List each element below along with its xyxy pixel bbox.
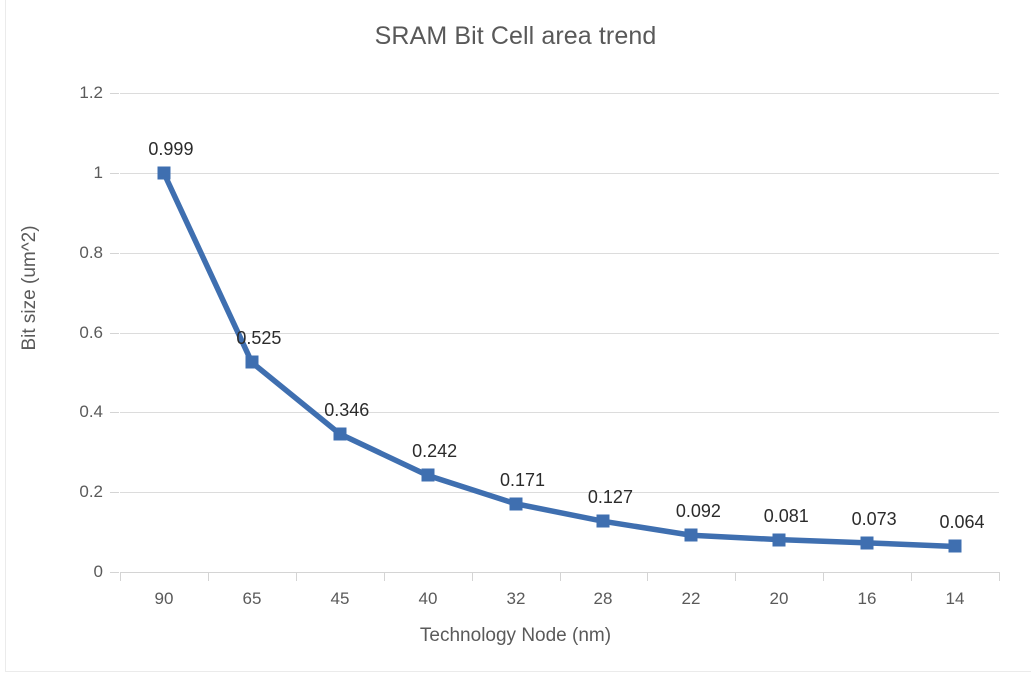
frame-border-left bbox=[5, 0, 6, 672]
x-axis-tick bbox=[823, 572, 824, 581]
y-axis-tick-label: 0 bbox=[8, 562, 103, 582]
x-axis-tick bbox=[296, 572, 297, 581]
x-axis-tick bbox=[472, 572, 473, 581]
data-point-label: 0.525 bbox=[236, 328, 281, 349]
x-axis-tick-label: 14 bbox=[915, 589, 995, 609]
y-axis-tick bbox=[110, 173, 119, 174]
chart-title: SRAM Bit Cell area trend bbox=[0, 22, 1031, 51]
x-axis-tick bbox=[735, 572, 736, 581]
x-axis-tick bbox=[208, 572, 209, 581]
y-axis-tick bbox=[110, 93, 119, 94]
x-axis-tick-label: 20 bbox=[739, 589, 819, 609]
data-point-marker[interactable] bbox=[157, 167, 170, 180]
data-point-marker[interactable] bbox=[245, 356, 258, 369]
y-axis-title: Bit size (um^2) bbox=[19, 128, 41, 448]
y-axis-tick-label: 1.2 bbox=[8, 83, 103, 103]
data-point-marker[interactable] bbox=[861, 536, 874, 549]
y-axis-tick bbox=[110, 492, 119, 493]
y-axis-tick bbox=[110, 333, 119, 334]
x-axis-title: Technology Node (nm) bbox=[0, 625, 1031, 647]
x-axis-tick bbox=[120, 572, 121, 581]
data-point-marker[interactable] bbox=[685, 529, 698, 542]
x-axis-tick-label: 90 bbox=[124, 589, 204, 609]
data-point-label: 0.346 bbox=[324, 400, 369, 421]
x-axis-tick bbox=[560, 572, 561, 581]
x-axis-tick-label: 16 bbox=[827, 589, 907, 609]
y-axis-tick bbox=[110, 253, 119, 254]
data-point-label: 0.171 bbox=[500, 470, 545, 491]
data-point-marker[interactable] bbox=[949, 540, 962, 553]
x-axis-tick-label: 22 bbox=[651, 589, 731, 609]
data-point-label: 0.999 bbox=[148, 139, 193, 160]
frame-border-bottom bbox=[5, 671, 1031, 672]
data-point-label: 0.127 bbox=[588, 487, 633, 508]
data-point-label: 0.081 bbox=[764, 506, 809, 527]
y-axis-tick-label: 0.2 bbox=[8, 482, 103, 502]
data-point-marker[interactable] bbox=[509, 497, 522, 510]
data-point-label: 0.092 bbox=[676, 501, 721, 522]
x-axis-tick bbox=[384, 572, 385, 581]
x-axis-tick-label: 40 bbox=[388, 589, 468, 609]
data-point-marker[interactable] bbox=[333, 427, 346, 440]
y-axis-tick bbox=[110, 412, 119, 413]
data-point-marker[interactable] bbox=[597, 515, 610, 528]
x-axis-tick-label: 45 bbox=[300, 589, 380, 609]
x-axis-tick-label: 32 bbox=[476, 589, 556, 609]
data-point-marker[interactable] bbox=[773, 533, 786, 546]
data-point-label: 0.064 bbox=[940, 512, 985, 533]
data-point-label: 0.242 bbox=[412, 441, 457, 462]
data-point-label: 0.073 bbox=[852, 509, 897, 530]
data-point-marker[interactable] bbox=[421, 469, 434, 482]
x-axis-tick bbox=[647, 572, 648, 581]
x-axis-tick-label: 28 bbox=[563, 589, 643, 609]
y-axis-tick bbox=[110, 572, 119, 573]
x-axis-tick bbox=[911, 572, 912, 581]
x-axis-tick-label: 65 bbox=[212, 589, 292, 609]
x-axis-tick bbox=[999, 572, 1000, 581]
chart-container: SRAM Bit Cell area trend 00.20.40.60.811… bbox=[0, 0, 1031, 683]
